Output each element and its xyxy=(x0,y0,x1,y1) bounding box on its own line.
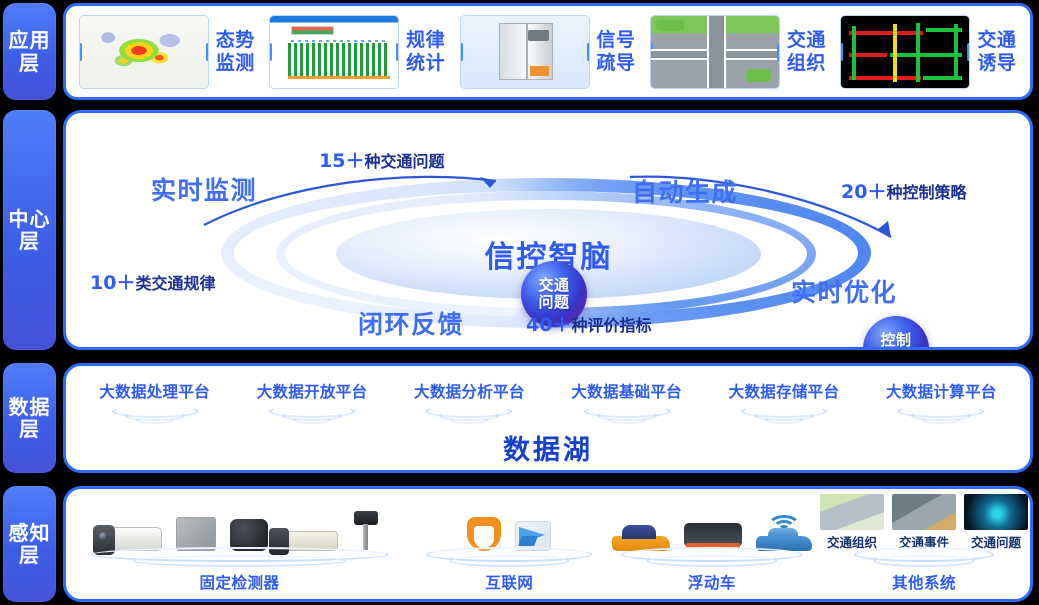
data-lake-reflection: 数据湖 xyxy=(66,472,1030,473)
pole-camera-icon xyxy=(352,511,378,551)
device-icons xyxy=(102,489,378,551)
layer-rail-perception[interactable]: 感知层 xyxy=(3,486,56,602)
cabinet-module xyxy=(530,66,549,76)
app-item-label: 规律 统计 xyxy=(406,29,445,74)
app-item-traffic-guidance[interactable]: 交通 诱导 xyxy=(834,16,1024,88)
layer-rail-application[interactable]: 应用层 xyxy=(3,3,56,100)
data-layer-panel: 大数据处理平台 大数据开放平台 大数据分析平台 大数据基础平台 大数据存储平台 … xyxy=(63,363,1033,473)
count-text: 种评价指标 xyxy=(571,316,651,335)
brain-diagram: 信控智脑 交通 问题 控制 策略 效果 评价 出行 规律 实时监测 自动生成 实… xyxy=(66,113,1030,347)
perception-group-label: 浮动车 xyxy=(688,571,736,593)
application-layer-panel: 态势 监测 规律 统计 信号 疏导 xyxy=(63,3,1033,100)
data-platform-label: 大数据处理平台 xyxy=(76,380,233,402)
road-vertical xyxy=(707,16,726,88)
ripple-icon xyxy=(581,405,673,425)
rail-label-data: 数据层 xyxy=(3,396,56,441)
app-item-label: 交通 诱导 xyxy=(977,29,1016,74)
pedestal-ellipse xyxy=(90,547,388,569)
connected-car-icon xyxy=(756,517,812,551)
arc-label-realtime-monitoring: 实时监测 xyxy=(151,171,257,207)
data-platform-item[interactable]: 大数据开放平台 xyxy=(233,380,390,425)
didi-logo-icon xyxy=(467,517,501,551)
data-platform-label: 大数据基础平台 xyxy=(548,380,705,402)
data-platform-item[interactable]: 大数据处理平台 xyxy=(76,380,233,425)
cabinet-body xyxy=(499,23,527,81)
ripple-icon xyxy=(423,405,515,425)
data-platform-label: 大数据存储平台 xyxy=(705,380,862,402)
other-system-item[interactable]: 交通组织 xyxy=(820,494,884,551)
app-item-label: 交通 组织 xyxy=(787,29,826,74)
node-label: 交通 问题 xyxy=(538,277,569,311)
pedestal-ellipse xyxy=(427,547,593,569)
node-control-strategy[interactable]: 控制 策略 xyxy=(863,316,929,350)
chart-legend xyxy=(291,26,335,35)
count-control-strategies: 20＋种控制策略 xyxy=(841,177,966,204)
app-item-label: 信号 疏导 xyxy=(597,29,636,74)
layer-rail-center[interactable]: 中心层 xyxy=(3,110,56,350)
data-platform-item[interactable]: 大数据分析平台 xyxy=(391,380,548,425)
grid-road-red xyxy=(849,31,923,35)
app-item-label: 态势 监测 xyxy=(216,29,255,74)
data-platform-row: 大数据处理平台 大数据开放平台 大数据分析平台 大数据基础平台 大数据存储平台 … xyxy=(66,366,1030,425)
grid-road-yellow xyxy=(893,24,897,82)
app-item-situation-monitoring[interactable]: 态势 监测 xyxy=(72,16,262,88)
arc-label-auto-generation: 自动生成 xyxy=(632,173,738,209)
perception-group-label: 互联网 xyxy=(485,571,533,593)
infographic-root: 应用层 中心层 数据层 感知层 态势 监测 规律 统计 xyxy=(0,0,1039,605)
traffic-problem-thumb xyxy=(964,494,1028,530)
data-platform-item[interactable]: 大数据计算平台 xyxy=(863,380,1020,425)
count-evaluation-metrics: 40＋种评价指标 xyxy=(526,310,651,337)
layer-rail-data[interactable]: 数据层 xyxy=(3,363,56,473)
count-text: 种交通问题 xyxy=(364,152,444,171)
arc-label-realtime-optimization: 实时优化 xyxy=(791,273,897,309)
ripple-icon xyxy=(266,405,358,425)
pedestal-ellipse xyxy=(854,547,994,569)
data-platform-label: 大数据开放平台 xyxy=(233,380,390,402)
ripple-icon xyxy=(895,405,987,425)
other-system-item[interactable]: 交通问题 xyxy=(964,494,1028,551)
chart-axis xyxy=(288,76,390,79)
arc-label-closed-loop-feedback: 闭环反馈 xyxy=(358,305,464,341)
count-text: 种控制策略 xyxy=(886,183,966,202)
data-platform-item[interactable]: 大数据基础平台 xyxy=(548,380,705,425)
node-label: 控制 策略 xyxy=(880,332,911,350)
count-value: 15＋ xyxy=(319,150,364,172)
perception-group-label: 固定检测器 xyxy=(200,571,280,593)
count-value: 20＋ xyxy=(841,181,886,203)
grid-road-green xyxy=(916,23,920,82)
green-area xyxy=(656,20,684,32)
green-area xyxy=(746,69,772,82)
perception-groups-row: 固定检测器 互联网 xyxy=(66,489,1030,599)
app-item-pattern-statistics[interactable]: 规律 统计 xyxy=(262,16,452,88)
count-value: 40＋ xyxy=(526,314,571,336)
signal-cabinet-thumbnail xyxy=(461,16,589,88)
grid-road-green xyxy=(852,26,856,81)
traffic-organization-thumb xyxy=(820,494,884,530)
app-item-traffic-organization[interactable]: 交通 组织 xyxy=(643,16,833,88)
grid-road-green xyxy=(890,53,962,57)
perception-group-other-systems[interactable]: 交通组织 交通事件 交通问题 其他系统 xyxy=(818,489,1030,599)
application-items-row: 态势 监测 规律 统计 信号 疏导 xyxy=(66,6,1030,97)
app-item-signal-guidance[interactable]: 信号 疏导 xyxy=(453,16,643,88)
perception-group-label: 其他系统 xyxy=(892,571,956,593)
rail-label-center: 中心层 xyxy=(3,208,56,253)
perception-group-internet[interactable]: 互联网 xyxy=(413,489,606,599)
rail-label-application: 应用层 xyxy=(3,29,56,74)
count-text: 类交通规律 xyxy=(135,274,215,293)
road-network-board-thumbnail xyxy=(841,16,969,88)
count-traffic-patterns: 10＋类交通规律 xyxy=(90,268,215,295)
count-value: 10＋ xyxy=(90,272,135,294)
data-lake-title: 数据湖 数据湖 xyxy=(66,428,1030,473)
center-layer-panel: 信控智脑 交通 问题 控制 策略 效果 评价 出行 规律 实时监测 自动生成 实… xyxy=(63,110,1033,350)
other-system-item[interactable]: 交通事件 xyxy=(892,494,956,551)
data-platform-item[interactable]: 大数据存储平台 xyxy=(705,380,862,425)
data-platform-label: 大数据分析平台 xyxy=(391,380,548,402)
chart-dotted-line xyxy=(291,40,388,42)
device-icons xyxy=(612,489,812,551)
display-panel-icon xyxy=(176,517,216,551)
cabinet-control-panel xyxy=(528,30,548,42)
chart-bars xyxy=(288,43,390,76)
ripple-icon xyxy=(109,405,201,425)
grid-road-red xyxy=(849,76,921,80)
device-icons xyxy=(467,489,551,551)
data-platform-label: 大数据计算平台 xyxy=(863,380,1020,402)
device-icons: 交通组织 交通事件 交通问题 xyxy=(820,489,1028,551)
grid-road-green xyxy=(954,24,958,80)
rail-label-perception: 感知层 xyxy=(3,522,56,567)
perception-group-floating-cars[interactable]: 浮动车 xyxy=(606,489,818,599)
perception-layer-panel: 固定检测器 互联网 xyxy=(63,486,1033,602)
data-lake-label: 数据湖 xyxy=(503,435,593,466)
intersection-3d-thumbnail xyxy=(651,16,779,88)
ripple-icon xyxy=(738,405,830,425)
pedestal-ellipse xyxy=(621,547,803,569)
traffic-event-thumb xyxy=(892,494,956,530)
perception-group-fixed-detectors[interactable]: 固定检测器 xyxy=(66,489,413,599)
statistics-chart-thumbnail xyxy=(270,16,398,88)
heatmap-thumbnail xyxy=(80,16,208,88)
count-traffic-problems: 15＋种交通问题 xyxy=(319,146,444,173)
